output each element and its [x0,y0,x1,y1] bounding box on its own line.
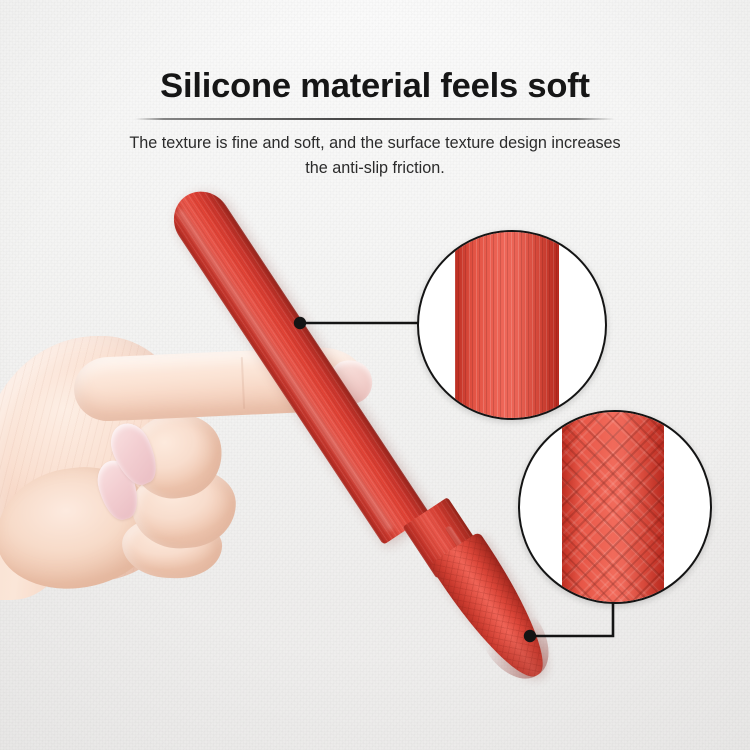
vertical-stripe-texture [455,230,559,420]
callout-circle-nib-texture [518,410,712,604]
nib-texture-swatch [562,410,664,604]
diamond-crosshatch-texture [562,410,664,604]
callout-circle-barrel-texture [417,230,607,420]
callout-dot-barrel [294,317,306,329]
callout-line-nib [531,601,613,636]
product-feature-image: Silicone material feels soft The texture… [0,0,750,750]
callout-dot-nib [524,630,536,642]
callout-lines [0,0,750,750]
barrel-texture-swatch [455,230,559,420]
